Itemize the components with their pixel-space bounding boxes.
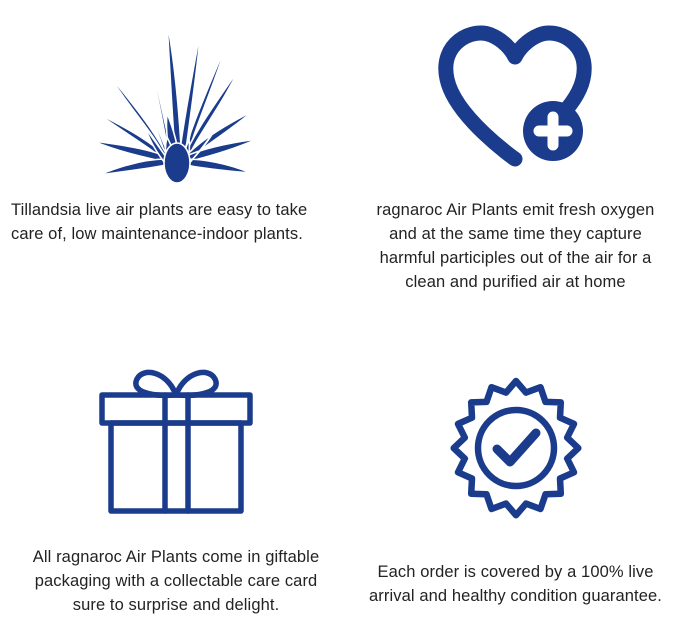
feature-caption: ragnaroc Air Plants emit fresh oxygen an… [352, 198, 679, 294]
feature-card-gift: All ragnaroc Air Plants come in giftable… [0, 308, 352, 617]
heart-plus-icon [352, 0, 679, 188]
air-plant-icon [0, 0, 352, 188]
feature-card-air-plant: Tillandsia live air plants are easy to t… [0, 0, 352, 308]
feature-caption: All ragnaroc Air Plants come in giftable… [11, 545, 341, 617]
feature-grid: Tillandsia live air plants are easy to t… [0, 0, 679, 617]
feature-grid-page: Tillandsia live air plants are easy to t… [0, 0, 679, 617]
gift-box-icon [0, 308, 352, 533]
feature-card-oxygen: ragnaroc Air Plants emit fresh oxygen an… [352, 0, 679, 308]
verified-badge-icon [352, 308, 679, 548]
feature-caption: Tillandsia live air plants are easy to t… [6, 198, 346, 246]
feature-card-guarantee: Each order is covered by a 100% live arr… [352, 308, 679, 617]
feature-caption: Each order is covered by a 100% live arr… [352, 560, 679, 608]
